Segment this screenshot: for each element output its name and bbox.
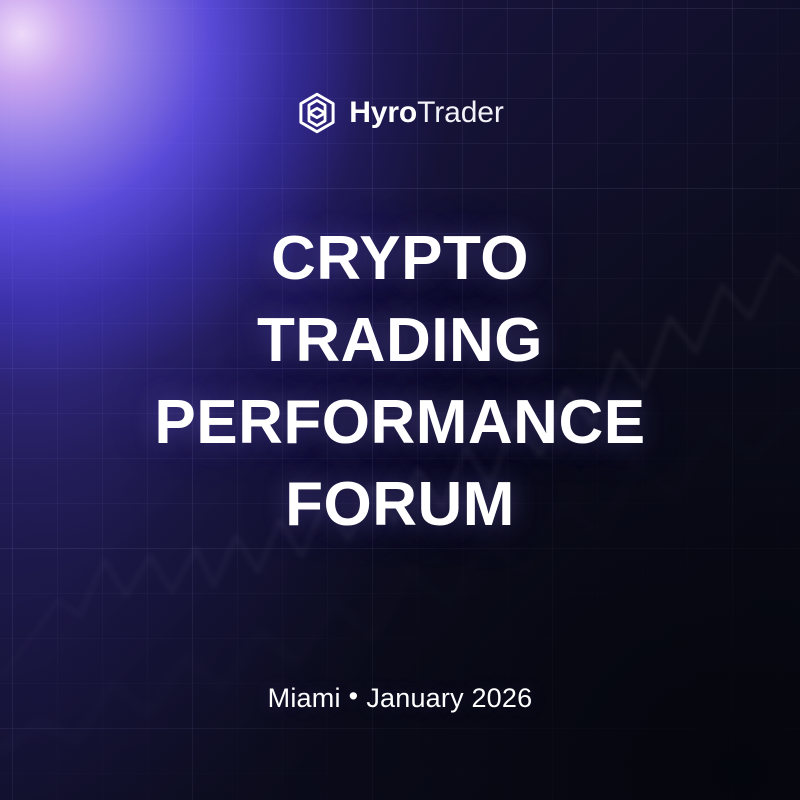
brand-name: HyroTrader	[349, 98, 504, 128]
poster-content: HyroTrader CRYPTO TRADING PERFORMANCE FO…	[0, 0, 800, 800]
page-title: CRYPTO TRADING PERFORMANCE FORUM	[154, 218, 645, 546]
event-location: Miami	[268, 683, 341, 713]
page-title-line-4: FORUM	[154, 464, 645, 546]
brand-name-bold: Hyro	[349, 98, 417, 128]
page-title-line-2: TRADING	[154, 300, 645, 382]
brand-lockup: HyroTrader	[296, 92, 504, 134]
meta-separator: •	[349, 681, 359, 712]
event-poster: HyroTrader CRYPTO TRADING PERFORMANCE FO…	[0, 0, 800, 800]
event-meta: Miami•January 2026	[268, 683, 533, 714]
page-title-line-1: CRYPTO	[154, 218, 645, 300]
brand-name-light: Trader	[417, 98, 504, 128]
page-title-line-3: PERFORMANCE	[154, 382, 645, 464]
hexagon-knot-logo-icon	[296, 92, 338, 134]
event-date: January 2026	[366, 683, 532, 713]
